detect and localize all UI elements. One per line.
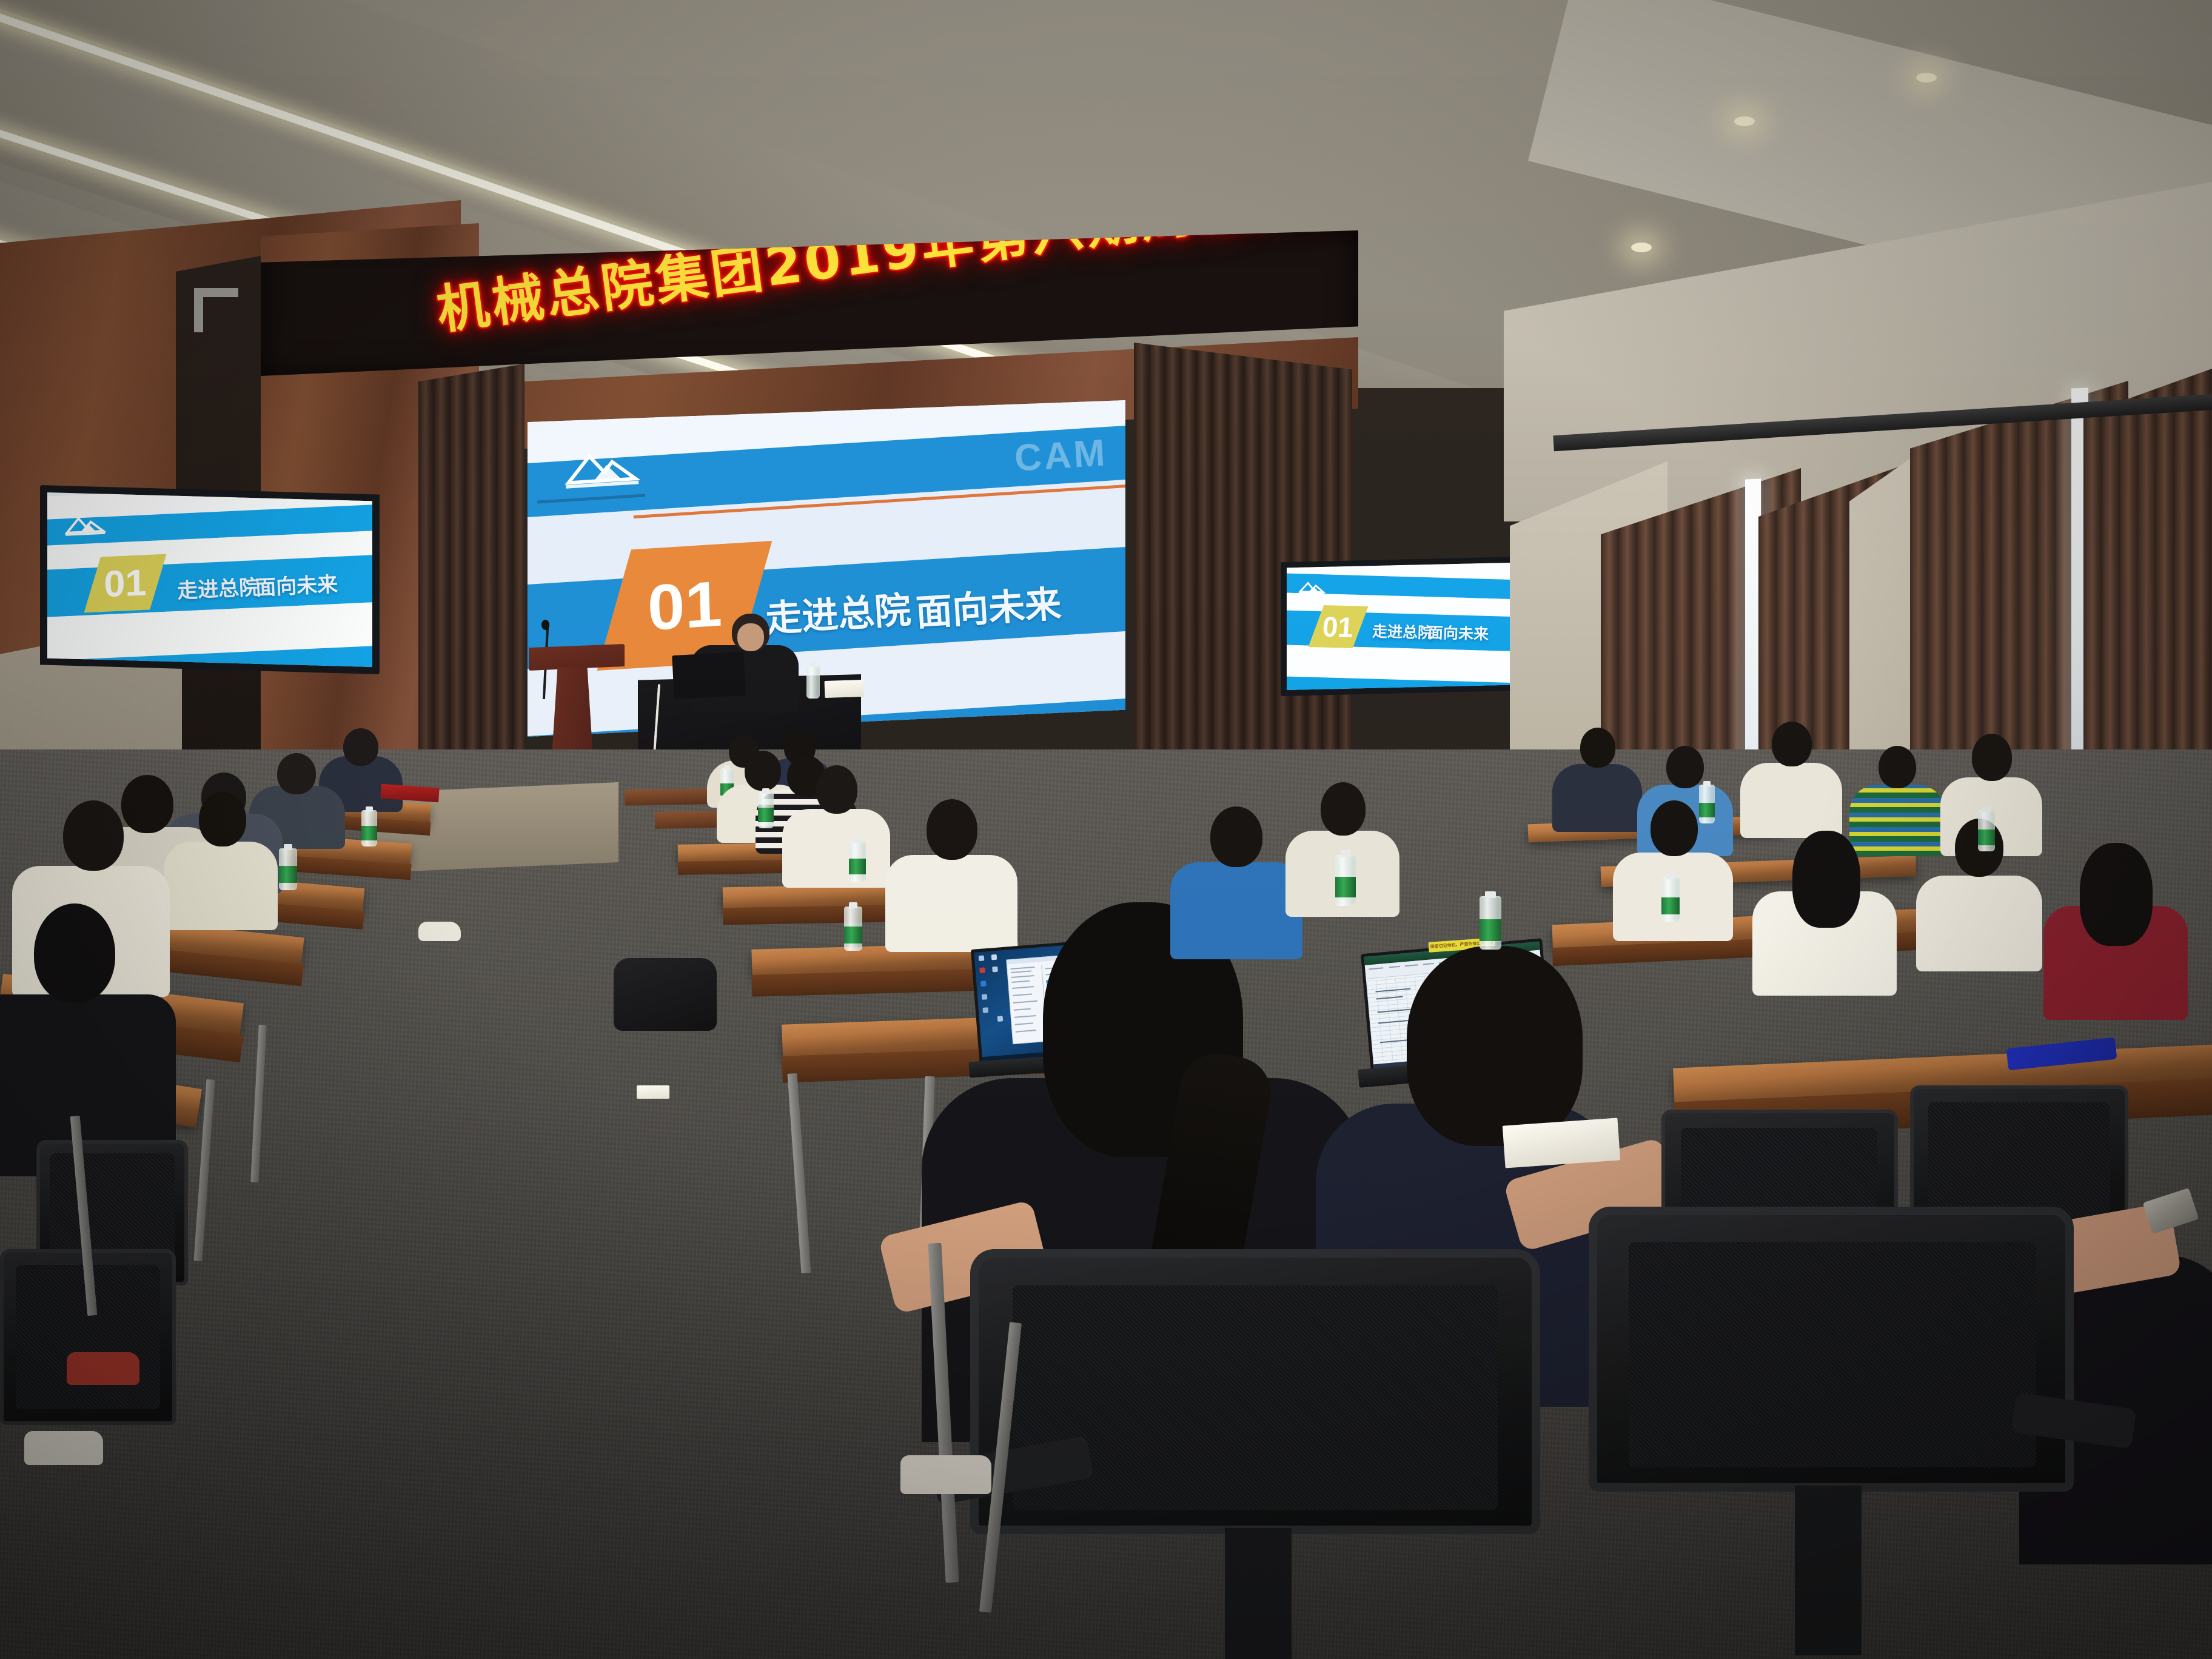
monitor-title-part1: 走进总院 (176, 571, 260, 604)
notepad-paper (1503, 1118, 1620, 1168)
mountain-logo-icon (1298, 579, 1327, 598)
monitor-title-part1: 走进总院 (1372, 619, 1433, 643)
chair-foreground-right (1589, 1207, 2086, 1655)
water-bottle (758, 788, 774, 828)
lectern-top (529, 644, 625, 671)
slide-watermark: CAM (1013, 431, 1108, 480)
recessed-downlight (1631, 243, 1652, 252)
chair-foreground-left (970, 1249, 1552, 1659)
water-bottle (1335, 850, 1356, 906)
water-bottle (361, 806, 377, 846)
shoe (24, 1431, 103, 1465)
podium-mic-head (541, 620, 549, 630)
backpack-on-floor (614, 958, 717, 1031)
water-bottle (1699, 781, 1715, 823)
audience-member (1740, 722, 1843, 837)
right-wall-monitor: 01 走进总院 面向未来 (1281, 557, 1517, 696)
presenter-face (737, 623, 764, 651)
left-monitor-screen: 01 走进总院 面向未来 (47, 492, 372, 667)
monitor-title-part2: 面向未来 (1428, 620, 1489, 644)
left-wall-monitor: 01 走进总院 面向未来 (40, 485, 380, 674)
mountain-logo-icon (561, 444, 648, 494)
shoe (900, 1455, 991, 1494)
chair-post (1225, 1528, 1292, 1659)
name-card (825, 680, 864, 698)
chair-mesh (1629, 1242, 2036, 1467)
water-bottle (849, 838, 866, 882)
chair-post (1795, 1486, 1862, 1655)
water-bottle (1661, 873, 1680, 922)
audience-member (164, 788, 279, 928)
audience-member-red (2043, 843, 2189, 1019)
water-bottle (1480, 891, 1501, 950)
recessed-downlight (1916, 73, 1937, 82)
water-bottle (279, 844, 297, 890)
audience-member-foreground (0, 903, 176, 1176)
water-bottle (1978, 806, 1995, 851)
wall-bracket-icon (194, 288, 238, 332)
slide-title-part2: 面向未来 (914, 575, 1062, 637)
smartphone[interactable] (2143, 1188, 2199, 1234)
water-bottle (844, 902, 862, 951)
shoe (67, 1352, 139, 1385)
shoe (418, 922, 461, 941)
monitor-number-text: 01 (1322, 610, 1355, 644)
monitor-title-part2: 面向未来 (255, 568, 338, 601)
recessed-downlight (1734, 116, 1755, 126)
hair (1407, 946, 1583, 1146)
monitor-number-text: 01 (104, 561, 147, 605)
lecture-hall-photo: 机械总院集团2019年第六期周五大讲堂 CAM (0, 0, 2212, 1659)
right-monitor-screen: 01 走进总院 面向未来 (1287, 563, 1511, 690)
water-bottle (806, 662, 820, 699)
mountain-logo-icon (63, 512, 110, 539)
audience-member (1752, 831, 1898, 994)
stage-curtain-left (418, 364, 525, 806)
floor-paper (637, 1085, 669, 1099)
audience-member (782, 765, 891, 886)
audience-member (1170, 806, 1304, 958)
